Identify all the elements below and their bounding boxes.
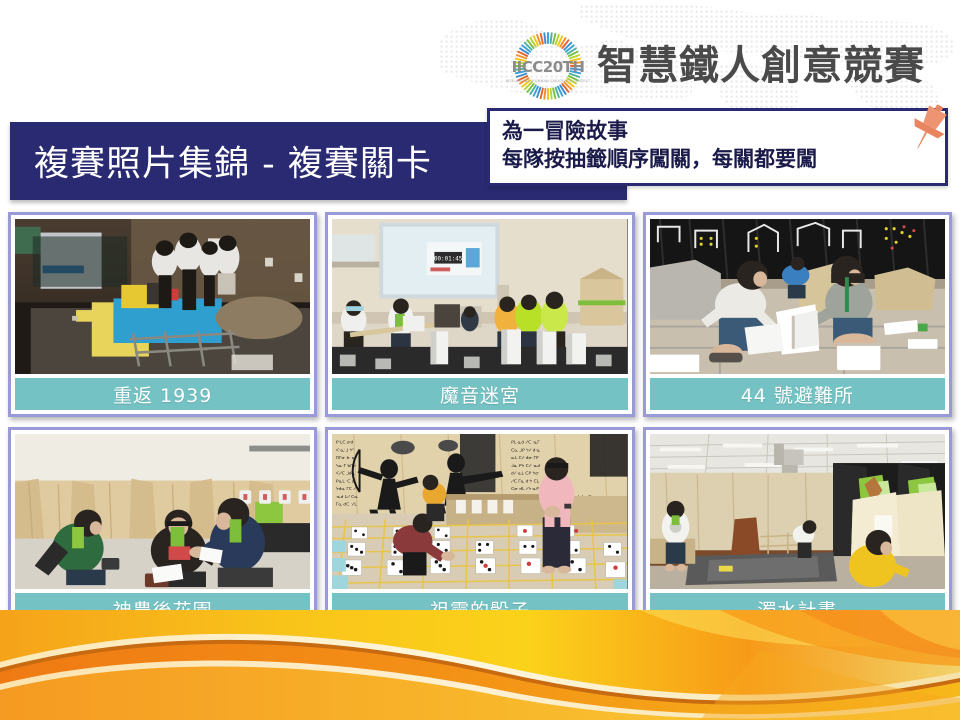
callout-line-1: 為一冒險故事 bbox=[502, 117, 937, 145]
photo-card[interactable]: ᑭ·ᒪᑕ ᓂᑯᐸ·ᓇ·ᒧ ᔭᑦ ᑎᒥᓂ ᑲᐧ ᓇᑦᓴᓇ·ᒥ ᑲᑎᔭ ᐸᓯᑕ ᒧᑯ… bbox=[325, 427, 634, 632]
callout-line-2: 每隊按抽籤順序闖關，每關都要闖 bbox=[502, 145, 937, 173]
photo-image: 00:01:45 bbox=[332, 219, 627, 374]
svg-text:ᐸ·ᓇ·ᒧ ᔭᑦ: ᐸ·ᓇ·ᒧ ᔭᑦ bbox=[336, 447, 354, 453]
slide-canvas: IICC20TH INTELLIGENT IRONMAN CREATIVITY … bbox=[0, 0, 960, 720]
photo-caption: 重返 1939 bbox=[15, 378, 310, 410]
photo-caption: 44 號避難所 bbox=[650, 378, 945, 410]
callout-text: 為一冒險故事 每隊按抽籤順序闖關，每關都要闖 bbox=[502, 117, 937, 174]
svg-text:ᑯᓯ ᓇᒪ ᑕᑭ ᔭᓂ: ᑯᓯ ᓇᒪ ᑕᑭ ᔭᓂ bbox=[511, 472, 539, 477]
event-logo: IICC20TH INTELLIGENT IRONMAN CREATIVITY … bbox=[505, 30, 935, 102]
photo-image bbox=[650, 434, 945, 589]
photo-image bbox=[15, 434, 310, 589]
footer-wave-band bbox=[0, 610, 960, 720]
svg-text:ᑕᓇ ᒧᑭ ᔭᓯ ᑯᐧᓇ: ᑕᓇ ᒧᑭ ᔭᓯ ᑯᐧᓇ bbox=[511, 448, 540, 453]
svg-text:ᓇᒪ ᑕᓯ ᑯᓂ ᒥᑭ: ᓇᒪ ᑕᓯ ᑯᓂ ᒥᑭ bbox=[511, 456, 539, 461]
page-title: 複賽照片集錦 - 複賽關卡 bbox=[34, 136, 432, 187]
svg-text:ᒧᓇ ᑭᔭ ᑕᓯ ᐧᓇᑯ: ᒧᓇ ᑭᔭ ᑕᓯ ᐧᓇᑯ bbox=[511, 464, 540, 469]
svg-text:00:01:45: 00:01:45 bbox=[434, 257, 463, 263]
photo-image bbox=[650, 219, 945, 374]
svg-text:ᑭ·ᒪᑕ ᓂᑯ: ᑭ·ᒪᑕ ᓂᑯ bbox=[336, 441, 354, 446]
svg-text:ᔭᑯᓇ ᒥᑕ ᓯ: ᔭᑯᓇ ᒥᑕ ᓯ bbox=[336, 487, 356, 492]
photo-caption: 魔音迷宮 bbox=[332, 378, 627, 410]
svg-text:ᑕᓂ ᑯᒪ ᓯᔭ ᓇᑭ: ᑕᓂ ᑯᒪ ᓯᔭ ᓇᑭ bbox=[511, 487, 539, 492]
photo-grid: 重返 1939 00:01:45 bbox=[8, 212, 952, 632]
photo-image bbox=[15, 219, 310, 374]
logo-wordmark: 智慧鐵人創意競賽 bbox=[597, 46, 925, 86]
svg-text:IICC20TH: IICC20TH bbox=[512, 58, 585, 76]
svg-text:INTELLIGENT IRONMAN CREATIVITY: INTELLIGENT IRONMAN CREATIVITY CONTEST bbox=[506, 79, 591, 83]
svg-text:ᑭᓇᒪ ᐧᑕ ᓂ: ᑭᓇᒪ ᐧᑕ ᓂ bbox=[336, 479, 356, 484]
iicc-logo-icon: IICC20TH INTELLIGENT IRONMAN CREATIVITY … bbox=[505, 30, 591, 102]
svg-text:ᓯᑕ ᒥᓇ ᑯᐧᔭ ᑕᒪ: ᓯᑕ ᒥᓇ ᑯᐧᔭ ᑕᒪ bbox=[511, 479, 540, 484]
svg-text:ᑭᒪ ᓇᑯ ᓯᑕ ᐧᓇᒥ: ᑭᒪ ᓇᑯ ᓯᑕ ᐧᓇᒥ bbox=[511, 441, 540, 446]
callout-note: 為一冒險故事 每隊按抽籤順序闖關，每關都要闖 bbox=[487, 108, 948, 186]
photo-card[interactable]: 重返 1939 bbox=[8, 212, 317, 417]
pushpin-icon bbox=[901, 99, 957, 155]
photo-image: ᑭ·ᒪᑕ ᓂᑯᐸ·ᓇ·ᒧ ᔭᑦ ᑎᒥᓂ ᑲᐧ ᓇᑦᓴᓇ·ᒥ ᑲᑎᔭ ᐸᓯᑕ ᒧᑯ… bbox=[332, 434, 627, 589]
photo-card[interactable]: 00:01:45 bbox=[325, 212, 634, 417]
svg-text:ᒥᓇ ᑯᑕ ᐧᓯᒪ: ᒥᓇ ᑯᑕ ᐧᓯᒪ bbox=[336, 503, 357, 508]
photo-card[interactable]: 44 號避難所 bbox=[643, 212, 952, 417]
photo-card[interactable]: 濁水計畫 bbox=[643, 427, 952, 632]
photo-card[interactable]: 神農後花園 bbox=[8, 427, 317, 632]
svg-text:ᐧᓇᑯ ᒪᓯ ᑕᓇ: ᐧᓇᑯ ᒪᓯ ᑕᓇ bbox=[336, 495, 358, 500]
